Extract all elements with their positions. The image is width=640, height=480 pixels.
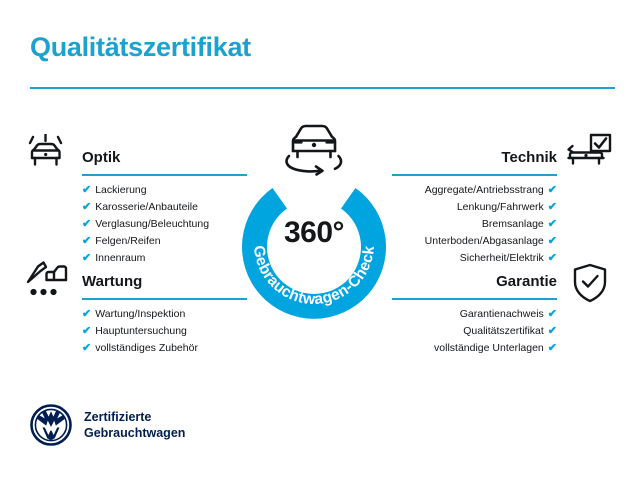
shield-check-icon — [572, 262, 608, 309]
list-item: Unterboden/Abgasanlage✔ — [392, 233, 557, 250]
check-icon: ✔ — [548, 235, 557, 247]
section-wartung: Wartung ✔Wartung/Inspektion ✔Hauptunters… — [82, 272, 247, 357]
section-header: Optik — [82, 148, 247, 178]
list-item-label: vollständiges Zubehör — [95, 342, 198, 354]
list-item-label: Verglasung/Beleuchtung — [95, 218, 209, 230]
section-technik: Technik Aggregate/Antriebsstrang✔ Lenkun… — [392, 148, 557, 267]
section-header: Garantie — [392, 272, 557, 302]
car-rotate-icon — [275, 120, 353, 178]
footer-brand: Zertifizierte Gebrauchtwagen — [30, 404, 185, 446]
check-icon: ✔ — [82, 308, 91, 320]
checklist: Aggregate/Antriebsstrang✔ Lenkung/Fahrwe… — [392, 182, 557, 267]
check-icon: ✔ — [548, 342, 557, 354]
list-item: ✔Hauptuntersuchung — [82, 323, 247, 340]
list-item: ✔Karosserie/Anbauteile — [82, 199, 247, 216]
list-item: Lenkung/Fahrwerk✔ — [392, 199, 557, 216]
section-underline — [392, 174, 557, 176]
checklist: ✔Wartung/Inspektion ✔Hauptuntersuchung ✔… — [82, 306, 247, 357]
section-header: Wartung — [82, 272, 247, 302]
list-item: ✔Lackierung — [82, 182, 247, 199]
list-item: Qualitätszertifikat✔ — [392, 323, 557, 340]
car-shine-icon — [24, 134, 68, 181]
list-item-label: Qualitätszertifikat — [463, 325, 544, 337]
car-service-wrench-icon — [24, 258, 70, 305]
page-title: Qualitätszertifikat — [30, 32, 251, 63]
check-icon: ✔ — [82, 235, 91, 247]
list-item: ✔Wartung/Inspektion — [82, 306, 247, 323]
check-icon: ✔ — [82, 201, 91, 213]
car-checkbox-icon — [566, 132, 614, 179]
check-icon: ✔ — [548, 218, 557, 230]
list-item-label: Karosserie/Anbauteile — [95, 201, 198, 213]
section-optik: Optik ✔Lackierung ✔Karosserie/Anbauteile… — [82, 148, 247, 267]
list-item: Aggregate/Antriebsstrang✔ — [392, 182, 557, 199]
section-underline — [392, 298, 557, 300]
check-icon: ✔ — [548, 201, 557, 213]
checklist: ✔Lackierung ✔Karosserie/Anbauteile ✔Verg… — [82, 182, 247, 267]
section-title: Garantie — [392, 272, 557, 292]
footer-brand-text: Zertifizierte Gebrauchtwagen — [84, 409, 185, 441]
list-item: vollständige Unterlagen✔ — [392, 340, 557, 357]
list-item: Sicherheit/Elektrik✔ — [392, 250, 557, 267]
list-item-label: Sicherheit/Elektrik — [460, 252, 544, 264]
check-icon: ✔ — [548, 184, 557, 196]
list-item: ✔Innenraum — [82, 250, 247, 267]
list-item: ✔vollständiges Zubehör — [82, 340, 247, 357]
list-item: ✔Verglasung/Beleuchtung — [82, 216, 247, 233]
section-title: Wartung — [82, 272, 247, 292]
section-title: Optik — [82, 148, 247, 168]
section-underline — [82, 298, 247, 300]
list-item-label: Wartung/Inspektion — [95, 308, 185, 320]
check-icon: ✔ — [548, 325, 557, 337]
header-divider — [30, 87, 615, 89]
check-icon: ✔ — [82, 218, 91, 230]
section-header: Technik — [392, 148, 557, 178]
list-item-label: Unterboden/Abgasanlage — [425, 235, 544, 247]
badge-center-label: 360° — [228, 216, 400, 250]
check-icon: ✔ — [548, 252, 557, 264]
list-item-label: Hauptuntersuchung — [95, 325, 187, 337]
section-title: Technik — [392, 148, 557, 168]
checklist: Garantienachweis✔ Qualitätszertifikat✔ v… — [392, 306, 557, 357]
list-item-label: Lenkung/Fahrwerk — [457, 201, 544, 213]
list-item-label: vollständige Unterlagen — [434, 342, 544, 354]
section-underline — [82, 174, 247, 176]
list-item-label: Innenraum — [95, 252, 145, 264]
list-item: ✔Felgen/Reifen — [82, 233, 247, 250]
check-icon: ✔ — [82, 325, 91, 337]
list-item: Garantienachweis✔ — [392, 306, 557, 323]
check-icon: ✔ — [82, 184, 91, 196]
list-item-label: Aggregate/Antriebsstrang — [425, 184, 544, 196]
badge-360-gebrauchtwagen-check: Gebrauchtwagen-Check 360° — [228, 158, 400, 330]
list-item-label: Lackierung — [95, 184, 146, 196]
list-item-label: Bremsanlage — [482, 218, 544, 230]
vw-logo — [30, 404, 72, 446]
list-item: Bremsanlage✔ — [392, 216, 557, 233]
section-garantie: Garantie Garantienachweis✔ Qualitätszert… — [392, 272, 557, 357]
check-icon: ✔ — [548, 308, 557, 320]
check-icon: ✔ — [82, 252, 91, 264]
check-icon: ✔ — [82, 342, 91, 354]
list-item-label: Felgen/Reifen — [95, 235, 160, 247]
list-item-label: Garantienachweis — [460, 308, 544, 320]
